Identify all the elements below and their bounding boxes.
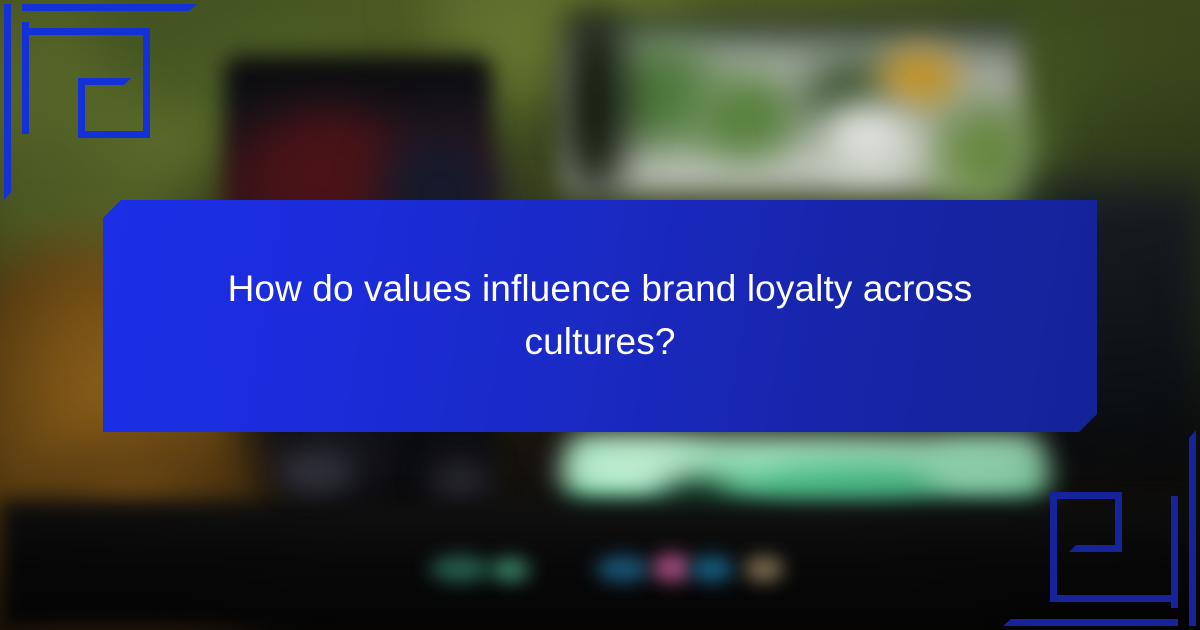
- question-banner: How do values influence brand loyalty ac…: [103, 200, 1097, 432]
- question-text: How do values influence brand loyalty ac…: [200, 263, 1000, 368]
- social-card: How do values influence brand loyalty ac…: [0, 0, 1200, 630]
